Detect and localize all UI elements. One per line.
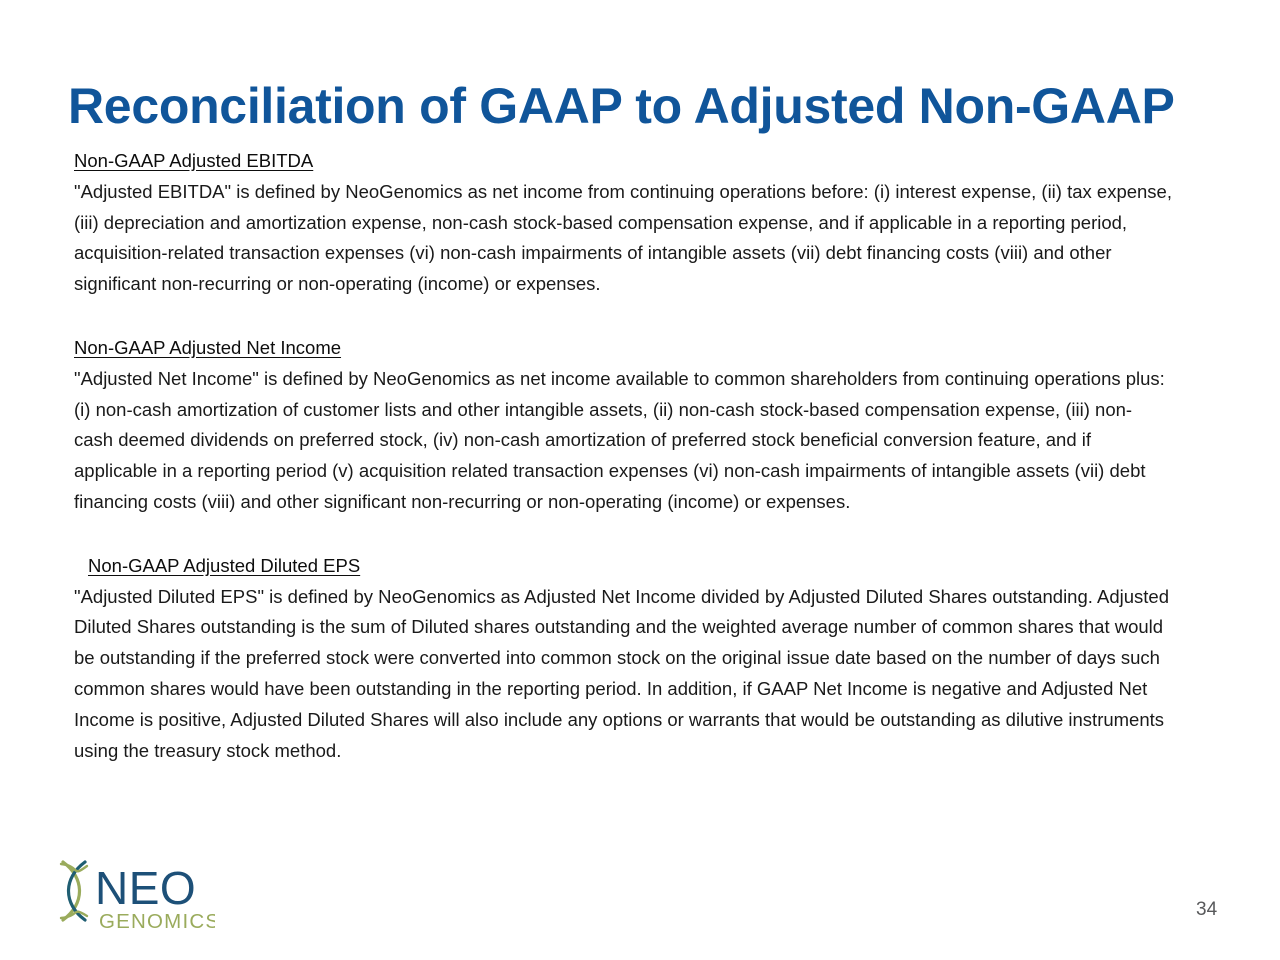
neogenomics-logo: NEO GENOMICS bbox=[55, 858, 215, 940]
page-number: 34 bbox=[1196, 900, 1217, 919]
section-body-adjusted-ebitda: "Adjusted EBITDA" is defined by NeoGenom… bbox=[74, 177, 1196, 300]
slide-body-content: Non-GAAP Adjusted EBITDA "Adjusted EBITD… bbox=[74, 146, 1204, 766]
slide: Reconciliation of GAAP to Adjusted Non-G… bbox=[0, 0, 1280, 960]
section-body-adjusted-net-income: "Adjusted Net Income" is defined by NeoG… bbox=[74, 364, 1172, 518]
page-title: Reconciliation of GAAP to Adjusted Non-G… bbox=[68, 78, 1228, 134]
neogenomics-logo-svg: NEO GENOMICS bbox=[55, 858, 215, 940]
logo-wordmark-neo: NEO bbox=[95, 862, 196, 914]
logo-wordmark-genomics: GENOMICS bbox=[99, 910, 215, 933]
section-adjusted-diluted-eps: Non-GAAP Adjusted Diluted EPS "Adjusted … bbox=[74, 551, 1204, 767]
section-heading-adjusted-net-income: Non-GAAP Adjusted Net Income bbox=[74, 333, 341, 364]
section-heading-adjusted-diluted-eps: Non-GAAP Adjusted Diluted EPS bbox=[88, 551, 360, 582]
section-adjusted-ebitda: Non-GAAP Adjusted EBITDA "Adjusted EBITD… bbox=[74, 146, 1204, 300]
section-adjusted-net-income: Non-GAAP Adjusted Net Income "Adjusted N… bbox=[74, 333, 1204, 518]
section-body-adjusted-diluted-eps: "Adjusted Diluted EPS" is defined by Neo… bbox=[74, 582, 1186, 767]
dna-helix-icon bbox=[61, 862, 87, 920]
section-heading-adjusted-ebitda: Non-GAAP Adjusted EBITDA bbox=[74, 146, 313, 177]
